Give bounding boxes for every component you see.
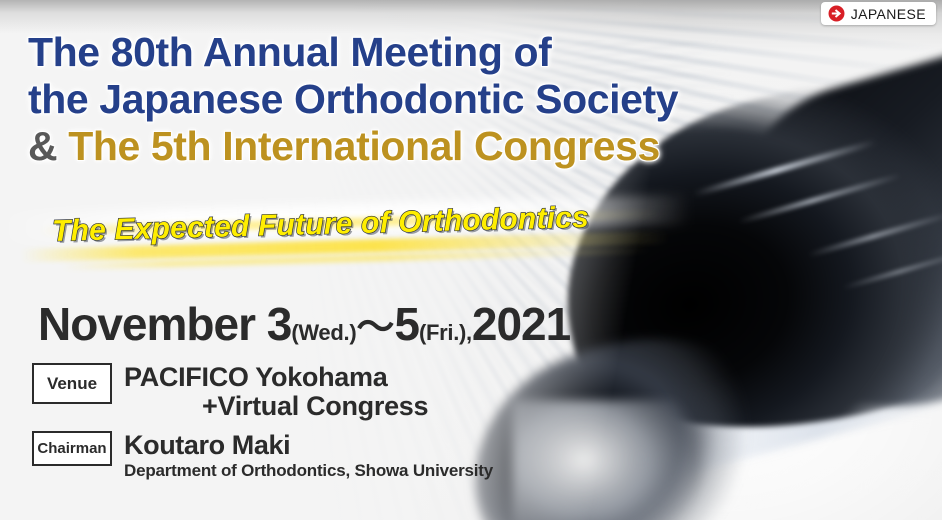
congress-date: November 3(Wed.)〜5(Fri.),2021	[38, 296, 570, 351]
date-day-end: 5	[394, 298, 419, 350]
date-month: November	[38, 298, 267, 350]
venue-tag-label: Venue	[32, 363, 112, 404]
title-ampersand: &	[28, 123, 57, 169]
date-day-start-note: (Wed.)	[291, 320, 356, 345]
chairman-details: Koutaro Maki Department of Orthodontics,…	[124, 431, 493, 481]
title-line-3: & The 5th International Congress	[28, 126, 678, 167]
date-day-end-note: (Fri.),	[419, 320, 472, 345]
chairman-tag-label: Chairman	[32, 431, 112, 466]
congress-title: The 80th Annual Meeting of the Japanese …	[28, 32, 678, 167]
venue-details: PACIFICO Yokohama +Virtual Congress	[124, 363, 428, 422]
arrow-right-circle-icon	[828, 5, 845, 22]
congress-info-rows: Venue PACIFICO Yokohama +Virtual Congres…	[32, 363, 493, 490]
title-international-congress: The 5th International Congress	[68, 123, 660, 169]
japanese-button-label: JAPANESE	[851, 6, 926, 22]
venue-name: PACIFICO Yokohama	[124, 363, 428, 391]
venue-row: Venue PACIFICO Yokohama +Virtual Congres…	[32, 363, 493, 422]
venue-virtual: +Virtual Congress	[124, 391, 428, 422]
chairman-name: Koutaro Maki	[124, 431, 493, 459]
congress-hero-banner: JAPANESE The 80th Annual Meeting of the …	[0, 0, 942, 520]
date-year: 2021	[472, 298, 570, 350]
japanese-language-button[interactable]: JAPANESE	[821, 2, 936, 25]
hero-content: JAPANESE The 80th Annual Meeting of the …	[0, 0, 942, 520]
title-line-2: the Japanese Orthodontic Society	[28, 79, 678, 120]
tagline-banner: The Expected Future of Orthodontics	[0, 196, 700, 268]
chairman-row: Chairman Koutaro Maki Department of Orth…	[32, 431, 493, 481]
title-line-1: The 80th Annual Meeting of	[28, 32, 678, 73]
date-range-separator: 〜	[356, 307, 394, 349]
date-day-start: 3	[267, 298, 292, 350]
chairman-affiliation: Department of Orthodontics, Showa Univer…	[124, 461, 493, 481]
